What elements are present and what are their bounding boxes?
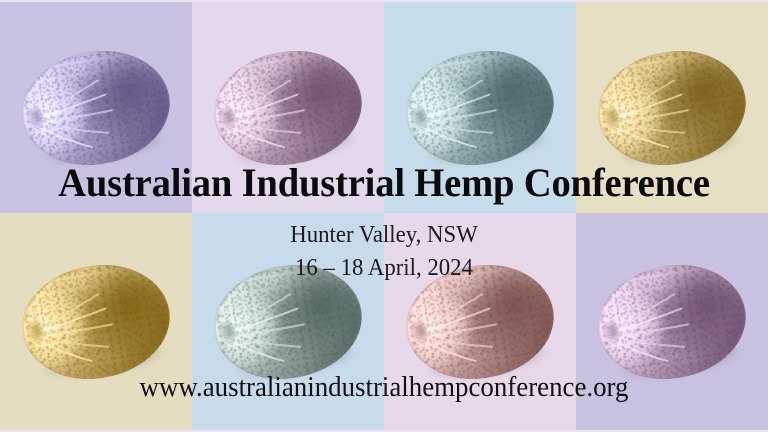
event-location: Hunter Valley, NSW: [19, 219, 749, 252]
event-dates: 16 – 18 April, 2024: [19, 252, 749, 285]
website-url: www.australianindustrialhempconference.o…: [15, 374, 752, 402]
conference-poster: Australian Industrial Hemp Conference Hu…: [0, 0, 768, 432]
background-tile-grid: [0, 2, 768, 430]
event-details: Hunter Valley, NSW 16 – 18 April, 2024: [19, 219, 749, 285]
hemp-seed-3: [398, 41, 562, 175]
hemp-seed-4: [590, 41, 754, 175]
hemp-seed-2: [206, 41, 370, 175]
page-title: Australian Industrial Hemp Conference: [13, 163, 754, 203]
hemp-seed-1: [14, 41, 178, 175]
